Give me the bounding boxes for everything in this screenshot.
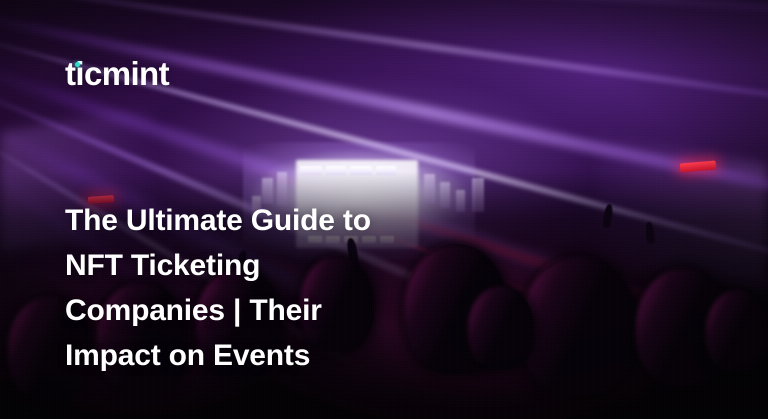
headline-line-3: Companies | Their [65,288,465,333]
hero-banner: ticmint The Ultimate Guide to NFT Ticket… [0,0,768,419]
brand-logo-text: ticmint [65,57,169,90]
brand-logo[interactable]: ticmint [65,57,169,90]
page-title: The Ultimate Guide to NFT Ticketing Comp… [65,198,465,378]
headline-line-4: Impact on Events [65,333,465,378]
headline-line-1: The Ultimate Guide to [65,198,465,243]
brand-accent-dot-icon [75,62,80,67]
headline-line-2: NFT Ticketing [65,243,465,288]
